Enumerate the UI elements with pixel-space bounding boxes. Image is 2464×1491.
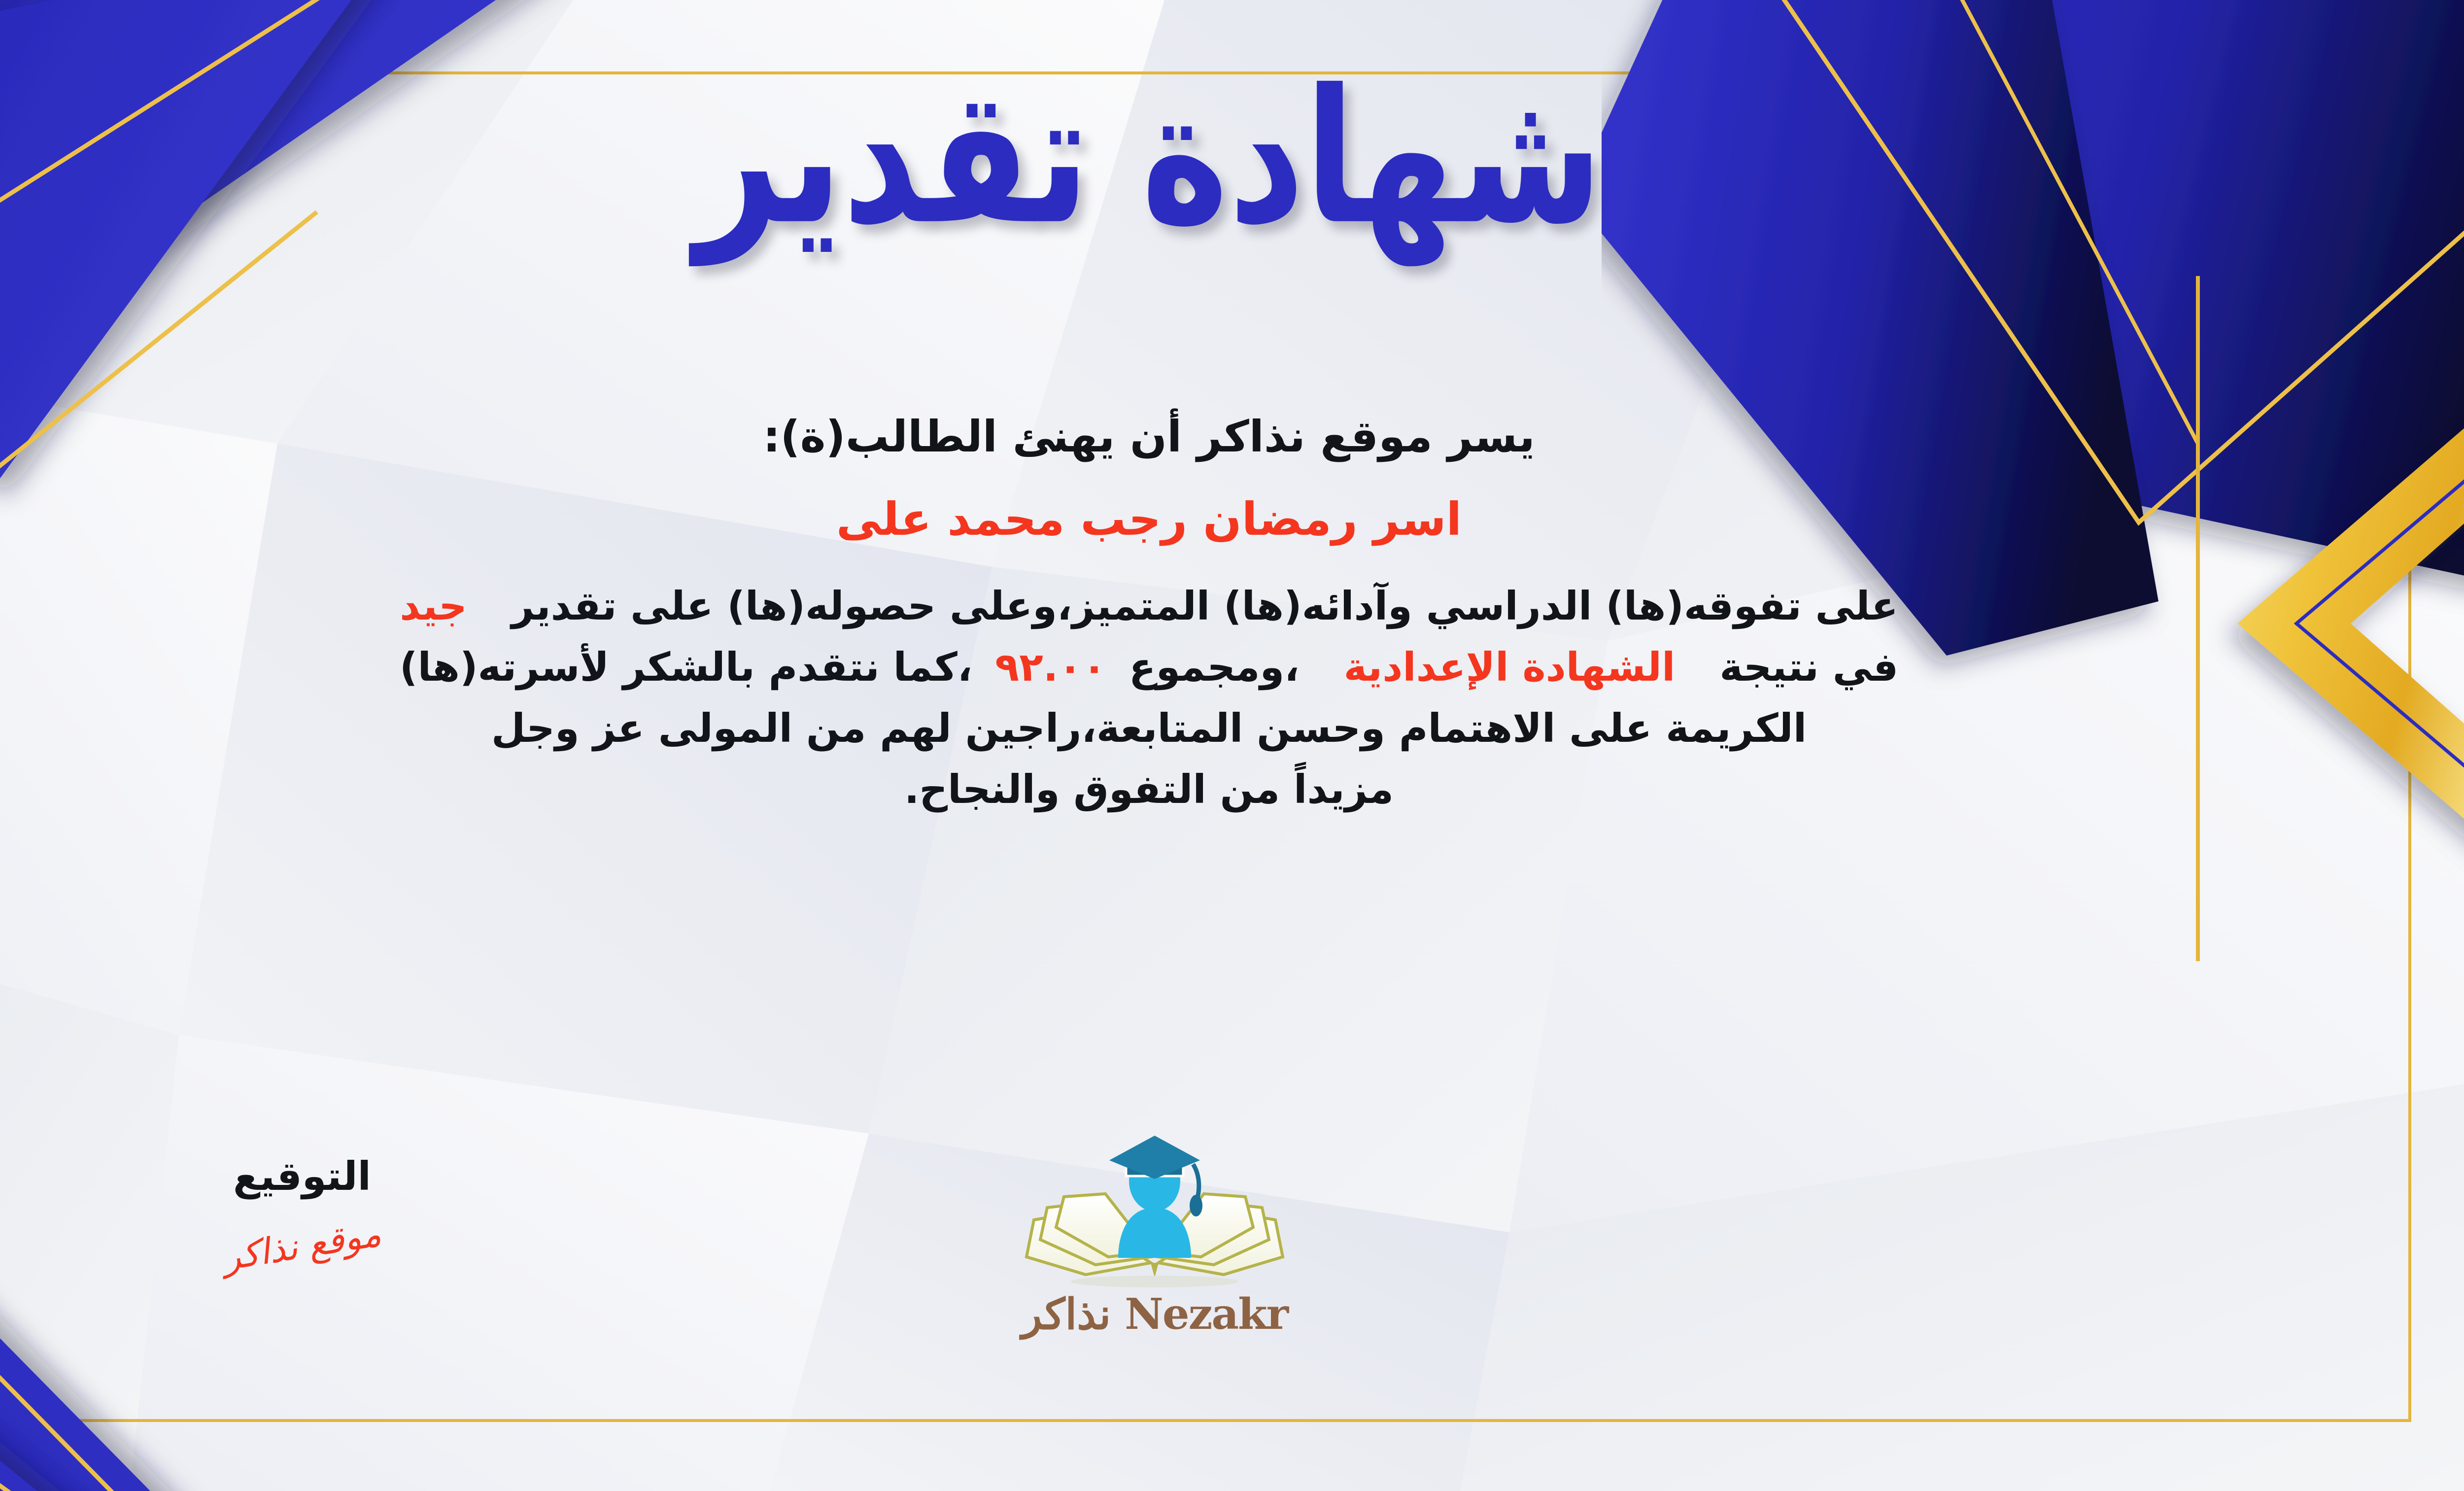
citation-paragraph: على تفوقه(ها) الدراسي وآدائه(ها) المتميز… xyxy=(0,576,2316,820)
signature-label: التوقيع xyxy=(174,1153,430,1199)
citation-part-6: مزيداً من التفوق والنجاح. xyxy=(904,766,1394,812)
certificate-title-wrap: شهادة تقدير xyxy=(0,84,2464,232)
brand-logo-block: Nezakr نذاكر xyxy=(962,1134,1347,1339)
total-score: ٩٢.٠٠ xyxy=(995,644,1106,690)
page-title: شهادة تقدير xyxy=(695,66,1603,250)
signature-block: التوقيع موقع نذاكر xyxy=(174,1153,430,1266)
certificate-body: يسر موقع نذاكر أن يهنئ الطالب(ة): اسر رم… xyxy=(0,409,2316,820)
brand-wordmark: Nezakr نذاكر xyxy=(962,1289,1347,1339)
citation-part-1: على تفوقه(ها) الدراسي وآدائه(ها) المتميز… xyxy=(512,583,1898,629)
student-name: اسر رمضان رجب محمد على xyxy=(0,490,2316,549)
certificate-name: الشهادة الإعدادية xyxy=(1344,644,1676,690)
citation-part-4: ،كما نتقدم بالشكر لأسرته(ها) xyxy=(400,644,972,690)
citation-part-2: في نتيجة xyxy=(1719,644,1898,690)
grade-value: جيد xyxy=(400,583,467,629)
citation-part-5: الكريمة على الاهتمام وحسن المتابعة،راجين… xyxy=(491,705,1807,751)
certificate-canvas: شهادة تقدير يسر موقع نذاكر أن يهنئ الطال… xyxy=(0,0,2464,1491)
graduate-book-icon xyxy=(1017,1134,1293,1296)
intro-line: يسر موقع نذاكر أن يهنئ الطالب(ة): xyxy=(0,409,2316,465)
citation-part-3: ،ومجموع xyxy=(1129,644,1300,690)
